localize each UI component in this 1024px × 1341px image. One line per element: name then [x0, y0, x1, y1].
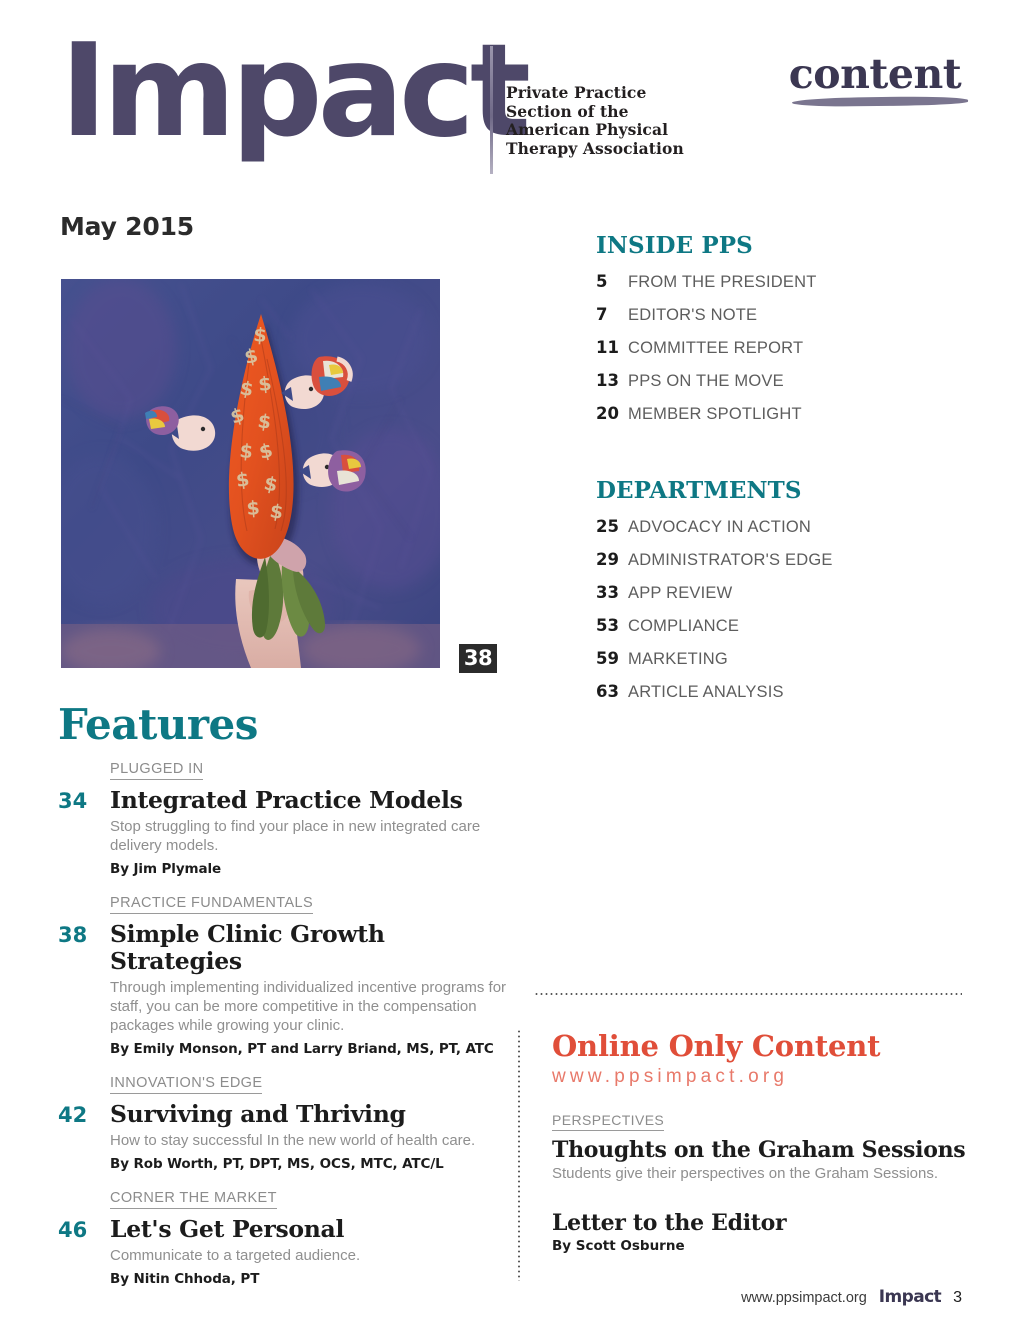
toc-row[interactable]: 20 MEMBER SPOTLIGHT: [596, 404, 996, 424]
svg-text:$: $: [253, 324, 268, 347]
toc-label: FROM THE PRESIDENT: [628, 273, 816, 292]
footer-page-number: 3: [953, 1289, 962, 1307]
toc-page-number: 13: [596, 371, 628, 390]
toc-page-number: 25: [596, 517, 628, 536]
vertical-dotted-divider: [518, 1029, 520, 1281]
cover-illustration: $ $ $ $ $ $ $ $ $ $ $ $: [61, 279, 440, 668]
toc-label: ARTICLE ANALYSIS: [628, 683, 784, 702]
feature-item[interactable]: INNOVATION'S EDGE 42 Surviving and Thriv…: [58, 1074, 508, 1172]
toc-row[interactable]: 59 MARKETING: [596, 649, 996, 669]
feature-description: How to stay successful In the new world …: [110, 1131, 508, 1150]
online-title[interactable]: Letter to the Editor: [552, 1210, 972, 1236]
toc-page-number: 5: [596, 272, 628, 291]
online-only-url[interactable]: www.ppsimpact.org: [552, 1066, 972, 1088]
tagline-line-4: Therapy Association: [506, 140, 684, 159]
feature-title[interactable]: Let's Get Personal: [110, 1216, 508, 1243]
toc-row[interactable]: 11 COMMITTEE REPORT: [596, 338, 996, 358]
toc-label: APP REVIEW: [628, 584, 732, 603]
page-footer: www.ppsimpact.org Impact 3: [741, 1287, 962, 1307]
toc-page-number: 33: [596, 583, 628, 602]
tagline-line-2: Section of the: [506, 103, 684, 122]
online-description: Students give their perspectives on the …: [552, 1165, 972, 1182]
feature-kicker: PLUGGED IN: [110, 761, 203, 780]
toc-page-number: 29: [596, 550, 628, 569]
feature-byline: By Rob Worth, PT, DPT, MS, OCS, MTC, ATC…: [110, 1156, 508, 1172]
toc-label: PPS ON THE MOVE: [628, 372, 784, 391]
toc-page-number: 11: [596, 338, 628, 357]
toc-row[interactable]: 29 ADMINISTRATOR'S EDGE: [596, 550, 996, 570]
feature-kicker: CORNER THE MARKET: [110, 1190, 277, 1209]
feature-title[interactable]: Simple Clinic Growth Strategies: [110, 921, 508, 975]
feature-description: Through implementing individualized ince…: [110, 978, 508, 1035]
toc-page-number: 59: [596, 649, 628, 668]
toc-label: COMPLIANCE: [628, 617, 739, 636]
online-only-heading: Online Only Content: [552, 1031, 972, 1061]
tagline-line-3: American Physical: [506, 121, 684, 140]
toc-row[interactable]: 25 ADVOCACY IN ACTION: [596, 517, 996, 537]
feature-byline: By Emily Monson, PT and Larry Briand, MS…: [110, 1041, 508, 1057]
footer-brand: Impact: [879, 1287, 941, 1307]
horizontal-dotted-divider: [534, 993, 962, 995]
masthead-tagline: Private Practice Section of the American…: [506, 84, 684, 158]
online-item[interactable]: PERSPECTIVES Thoughts on the Graham Sess…: [552, 1112, 972, 1182]
cover-figure: $ $ $ $ $ $ $ $ $ $ $ $: [61, 279, 440, 668]
toc-label: COMMITTEE REPORT: [628, 339, 803, 358]
feature-page-number: 42: [58, 1103, 87, 1127]
svg-text:$: $: [257, 373, 272, 396]
toc-page-number: 20: [596, 404, 628, 423]
departments-section: DEPARTMENTS 25 ADVOCACY IN ACTION 29 ADM…: [596, 477, 996, 715]
online-byline: By Scott Osburne: [552, 1238, 972, 1254]
feature-byline: By Nitin Chhoda, PT: [110, 1271, 508, 1287]
toc-label: MEMBER SPOTLIGHT: [628, 405, 802, 424]
inside-pps-heading: INSIDE PPS: [596, 232, 996, 259]
toc-label: MARKETING: [628, 650, 728, 669]
online-title[interactable]: Thoughts on the Graham Sessions: [552, 1137, 972, 1163]
toc-label: ADVOCACY IN ACTION: [628, 518, 811, 537]
toc-page-number: 63: [596, 682, 628, 701]
feature-page-number: 38: [58, 923, 87, 947]
toc-row[interactable]: 33 APP REVIEW: [596, 583, 996, 603]
feature-item[interactable]: PRACTICE FUNDAMENTALS 38 Simple Clinic G…: [58, 894, 508, 1057]
toc-label: EDITOR'S NOTE: [628, 306, 757, 325]
online-item[interactable]: Letter to the Editor By Scott Osburne: [552, 1210, 972, 1254]
contents-page: Impact Private Practice Section of the A…: [0, 0, 1024, 1341]
cover-image: $ $ $ $ $ $ $ $ $ $ $ $: [61, 279, 440, 668]
feature-byline: By Jim Plymale: [110, 861, 508, 877]
toc-row[interactable]: 13 PPS ON THE MOVE: [596, 371, 996, 391]
feature-title[interactable]: Surviving and Thriving: [110, 1101, 508, 1128]
feature-item[interactable]: CORNER THE MARKET 46 Let's Get Personal …: [58, 1189, 508, 1287]
contents-title-group: content: [780, 54, 970, 106]
masthead: Impact Private Practice Section of the A…: [60, 42, 970, 182]
feature-page-number: 34: [58, 789, 87, 813]
toc-row[interactable]: 63 ARTICLE ANALYSIS: [596, 682, 996, 702]
feature-item[interactable]: PLUGGED IN 34 Integrated Practice Models…: [58, 760, 508, 877]
online-kicker: PERSPECTIVES: [552, 1112, 664, 1131]
cover-page-badge: 38: [459, 644, 497, 673]
online-only-section: Online Only Content www.ppsimpact.org PE…: [552, 1031, 972, 1272]
impact-logo: Impact: [60, 28, 526, 156]
feature-description: Stop struggling to find your place in ne…: [110, 817, 508, 855]
feature-description: Communicate to a targeted audience.: [110, 1246, 508, 1265]
features-heading: Features: [58, 700, 258, 749]
feature-page-number: 46: [58, 1218, 87, 1242]
toc-page-number: 53: [596, 616, 628, 635]
departments-heading: DEPARTMENTS: [596, 477, 996, 504]
features-list: PLUGGED IN 34 Integrated Practice Models…: [58, 760, 508, 1304]
toc-label: ADMINISTRATOR'S EDGE: [628, 551, 833, 570]
toc-page-number: 7: [596, 305, 628, 324]
footer-url[interactable]: www.ppsimpact.org: [741, 1290, 867, 1306]
svg-text:$: $: [246, 497, 261, 520]
tagline-line-1: Private Practice: [506, 84, 684, 103]
toc-row[interactable]: 53 COMPLIANCE: [596, 616, 996, 636]
feature-kicker: INNOVATION'S EDGE: [110, 1075, 262, 1094]
issue-date: May 2015: [60, 212, 194, 241]
feature-title[interactable]: Integrated Practice Models: [110, 787, 508, 814]
inside-pps-section: INSIDE PPS 5 FROM THE PRESIDENT 7 EDITOR…: [596, 232, 996, 437]
svg-text:$: $: [238, 440, 253, 463]
logo-divider-rule: [490, 46, 493, 174]
toc-row[interactable]: 7 EDITOR'S NOTE: [596, 305, 996, 325]
contents-title: content: [780, 54, 970, 95]
feature-kicker: PRACTICE FUNDAMENTALS: [110, 895, 313, 914]
toc-row[interactable]: 5 FROM THE PRESIDENT: [596, 272, 996, 292]
